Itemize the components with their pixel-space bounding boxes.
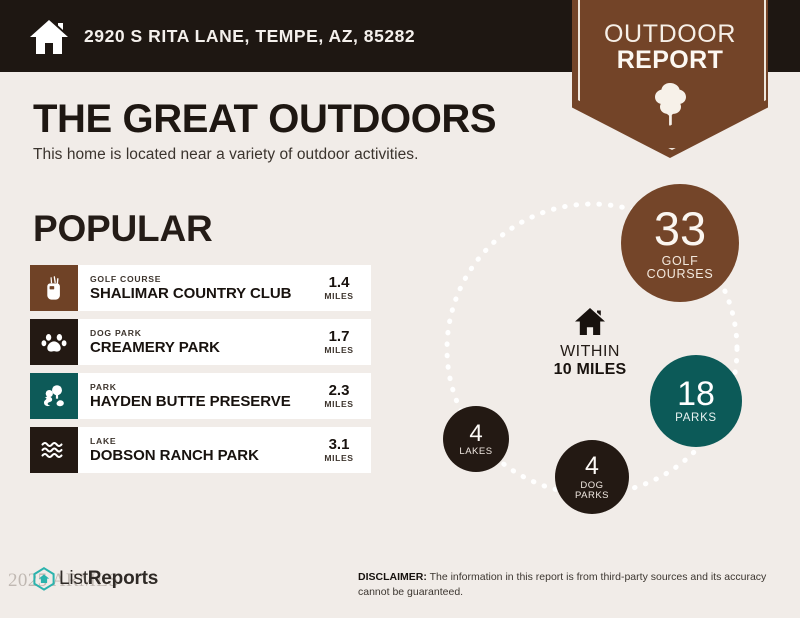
stat-label-line-1: LAKES — [459, 447, 492, 457]
list-item-name: HAYDEN BUTTE PRESERVE — [90, 393, 313, 410]
badge-line-2: REPORT — [572, 46, 768, 75]
list-item[interactable]: DOG PARK CREAMERY PARK 1.7 MILES — [30, 319, 371, 365]
page-subtitle: This home is located near a variety of o… — [33, 146, 418, 164]
list-item-icon-tile — [30, 319, 78, 365]
list-item-icon-tile — [30, 265, 78, 311]
summary-diagram: 33 GOLF COURSES 18 PARKS 4 LAKES 4 DOG P… — [400, 175, 790, 525]
badge-line-1: OUTDOOR — [572, 20, 768, 49]
disclaimer-label: DISCLAIMER: — [358, 571, 427, 583]
distance-value: 1.7 — [329, 329, 350, 345]
list-item-text: DOG PARK CREAMERY PARK — [78, 319, 313, 365]
park-trees-icon — [40, 382, 68, 410]
golf-bag-icon — [40, 274, 68, 302]
list-item-distance: 2.3 MILES — [313, 373, 371, 419]
paw-print-icon — [40, 328, 68, 356]
stat-count: 4 — [585, 454, 599, 479]
stat-bubble-dog-parks[interactable]: 4 DOG PARKS — [555, 440, 629, 514]
distance-unit: MILES — [324, 291, 353, 302]
distance-value: 3.1 — [329, 437, 350, 453]
listreports-house-icon — [32, 566, 56, 592]
page-title: THE GREAT OUTDOORS — [33, 97, 496, 142]
distance-value: 1.4 — [329, 275, 350, 291]
center-line-2: 10 MILES — [530, 361, 650, 379]
stat-count: 18 — [677, 377, 715, 411]
distance-unit: MILES — [324, 399, 353, 410]
list-item-text: GOLF COURSE SHALIMAR COUNTRY CLUB — [78, 265, 313, 311]
disclaimer: DISCLAIMER: The information in this repo… — [358, 570, 778, 599]
property-address: 2920 S RITA LANE, TEMPE, AZ, 85282 — [84, 26, 415, 47]
list-item-category: GOLF COURSE — [90, 274, 313, 285]
water-waves-icon — [40, 436, 68, 464]
list-item-name: SHALIMAR COUNTRY CLUB — [90, 285, 313, 302]
stat-count: 33 — [654, 205, 706, 252]
listreports-wordmark: ListReports — [59, 568, 158, 590]
stat-bubble-lakes[interactable]: 4 LAKES — [443, 406, 509, 472]
stat-bubble-golf-courses[interactable]: 33 GOLF COURSES — [621, 184, 739, 302]
list-item-name: DOBSON RANCH PARK — [90, 447, 313, 464]
list-item[interactable]: GOLF COURSE SHALIMAR COUNTRY CLUB 1.4 MI… — [30, 265, 371, 311]
logo-text-light: List — [59, 568, 88, 589]
list-item-text: LAKE DOBSON RANCH PARK — [78, 427, 313, 473]
center-line-1: WITHIN — [530, 343, 650, 361]
stat-label-line-2: COURSES — [647, 268, 714, 281]
stat-count: 4 — [469, 422, 482, 446]
tree-icon — [646, 80, 694, 128]
outdoor-report-page: 2920 S RITA LANE, TEMPE, AZ, 85282 OUTDO… — [0, 0, 800, 618]
distance-value: 2.3 — [329, 383, 350, 399]
list-item-text: PARK HAYDEN BUTTE PRESERVE — [78, 373, 313, 419]
list-item-category: DOG PARK — [90, 328, 313, 339]
list-item[interactable]: LAKE DOBSON RANCH PARK 3.1 MILES — [30, 427, 371, 473]
home-icon — [574, 307, 606, 336]
list-item-category: LAKE — [90, 436, 313, 447]
popular-list: GOLF COURSE SHALIMAR COUNTRY CLUB 1.4 MI… — [30, 265, 371, 480]
distance-unit: MILES — [324, 345, 353, 356]
listreports-logo[interactable]: ListReports — [32, 566, 158, 592]
list-item-icon-tile — [30, 373, 78, 419]
distance-unit: MILES — [324, 453, 353, 464]
list-item-distance: 3.1 MILES — [313, 427, 371, 473]
list-item[interactable]: PARK HAYDEN BUTTE PRESERVE 2.3 MILES — [30, 373, 371, 419]
stat-bubble-parks[interactable]: 18 PARKS — [650, 355, 742, 447]
stat-label-line-2: PARKS — [575, 491, 609, 501]
stat-label-line-1: PARKS — [675, 413, 717, 425]
diagram-center-label: WITHIN 10 MILES — [530, 307, 650, 379]
list-item-distance: 1.7 MILES — [313, 319, 371, 365]
list-item-distance: 1.4 MILES — [313, 265, 371, 311]
list-item-name: CREAMERY PARK — [90, 339, 313, 356]
logo-text-bold: Reports — [88, 568, 158, 589]
list-item-category: PARK — [90, 382, 313, 393]
list-item-icon-tile — [30, 427, 78, 473]
popular-heading: POPULAR — [33, 208, 213, 250]
home-icon — [28, 18, 70, 56]
